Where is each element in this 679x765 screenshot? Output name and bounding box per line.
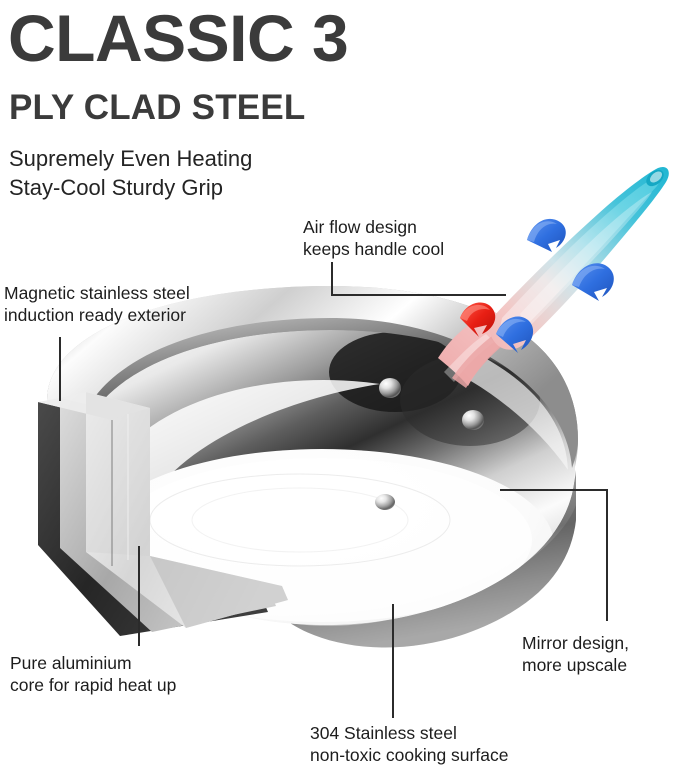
leader-line-mirror-arm [500,489,608,491]
callout-air-flow-line-2: keeps handle cool [303,238,444,260]
callout-stainless-line-2: non-toxic cooking surface [310,744,508,765]
airflow-arrow-lower [496,316,533,353]
callout-stainless-surface: 304 Stainless steel non-toxic cooking su… [310,722,508,765]
callout-aluminium-line-2: core for rapid heat up [10,674,176,696]
handle-rivets [375,378,484,510]
page-subtitle: PLY CLAD STEEL [9,88,305,128]
leader-line-stainless [392,604,394,718]
callout-air-flow-line-1: Air flow design [303,216,444,238]
pan-base [262,470,576,647]
heat-arrow-red [460,303,495,337]
air-cooled-handle [438,167,669,388]
callout-aluminium-core: Pure aluminium core for rapid heat up [10,652,176,696]
leader-line-air-flow-arm [331,294,506,296]
rivet [375,494,395,510]
airflow-arrow-upper [527,219,566,252]
leader-line-magnetic [59,337,61,401]
pan-interior [75,330,575,641]
tagline-line-1: Supremely Even Heating [9,144,252,173]
rivet [462,410,484,430]
cutaway-cross-section [38,392,288,636]
leader-line-air-flow [331,262,333,296]
rivet [379,378,401,398]
callout-air-flow: Air flow design keeps handle cool [303,216,444,260]
leader-line-mirror [606,489,608,621]
callout-mirror-design: Mirror design, more upscale [522,632,629,676]
leader-line-aluminium [138,546,140,646]
callout-stainless-line-1: 304 Stainless steel [310,722,508,744]
pan-outer-body [47,286,578,620]
callout-magnetic-exterior: Magnetic stainless steel induction ready… [4,282,190,326]
tagline-line-2: Stay-Cool Sturdy Grip [9,173,252,202]
tagline: Supremely Even Heating Stay-Cool Sturdy … [9,144,252,202]
callout-magnetic-line-1: Magnetic stainless steel [4,282,190,304]
airflow-arrow-middle [572,263,614,301]
callout-mirror-line-1: Mirror design, [522,632,629,654]
callout-mirror-line-2: more upscale [522,654,629,676]
product-infographic: CLASSIC 3 PLY CLAD STEEL Supremely Even … [0,0,679,765]
callout-aluminium-line-1: Pure aluminium [10,652,176,674]
callout-magnetic-line-2: induction ready exterior [4,304,190,326]
page-title: CLASSIC 3 [8,2,348,74]
